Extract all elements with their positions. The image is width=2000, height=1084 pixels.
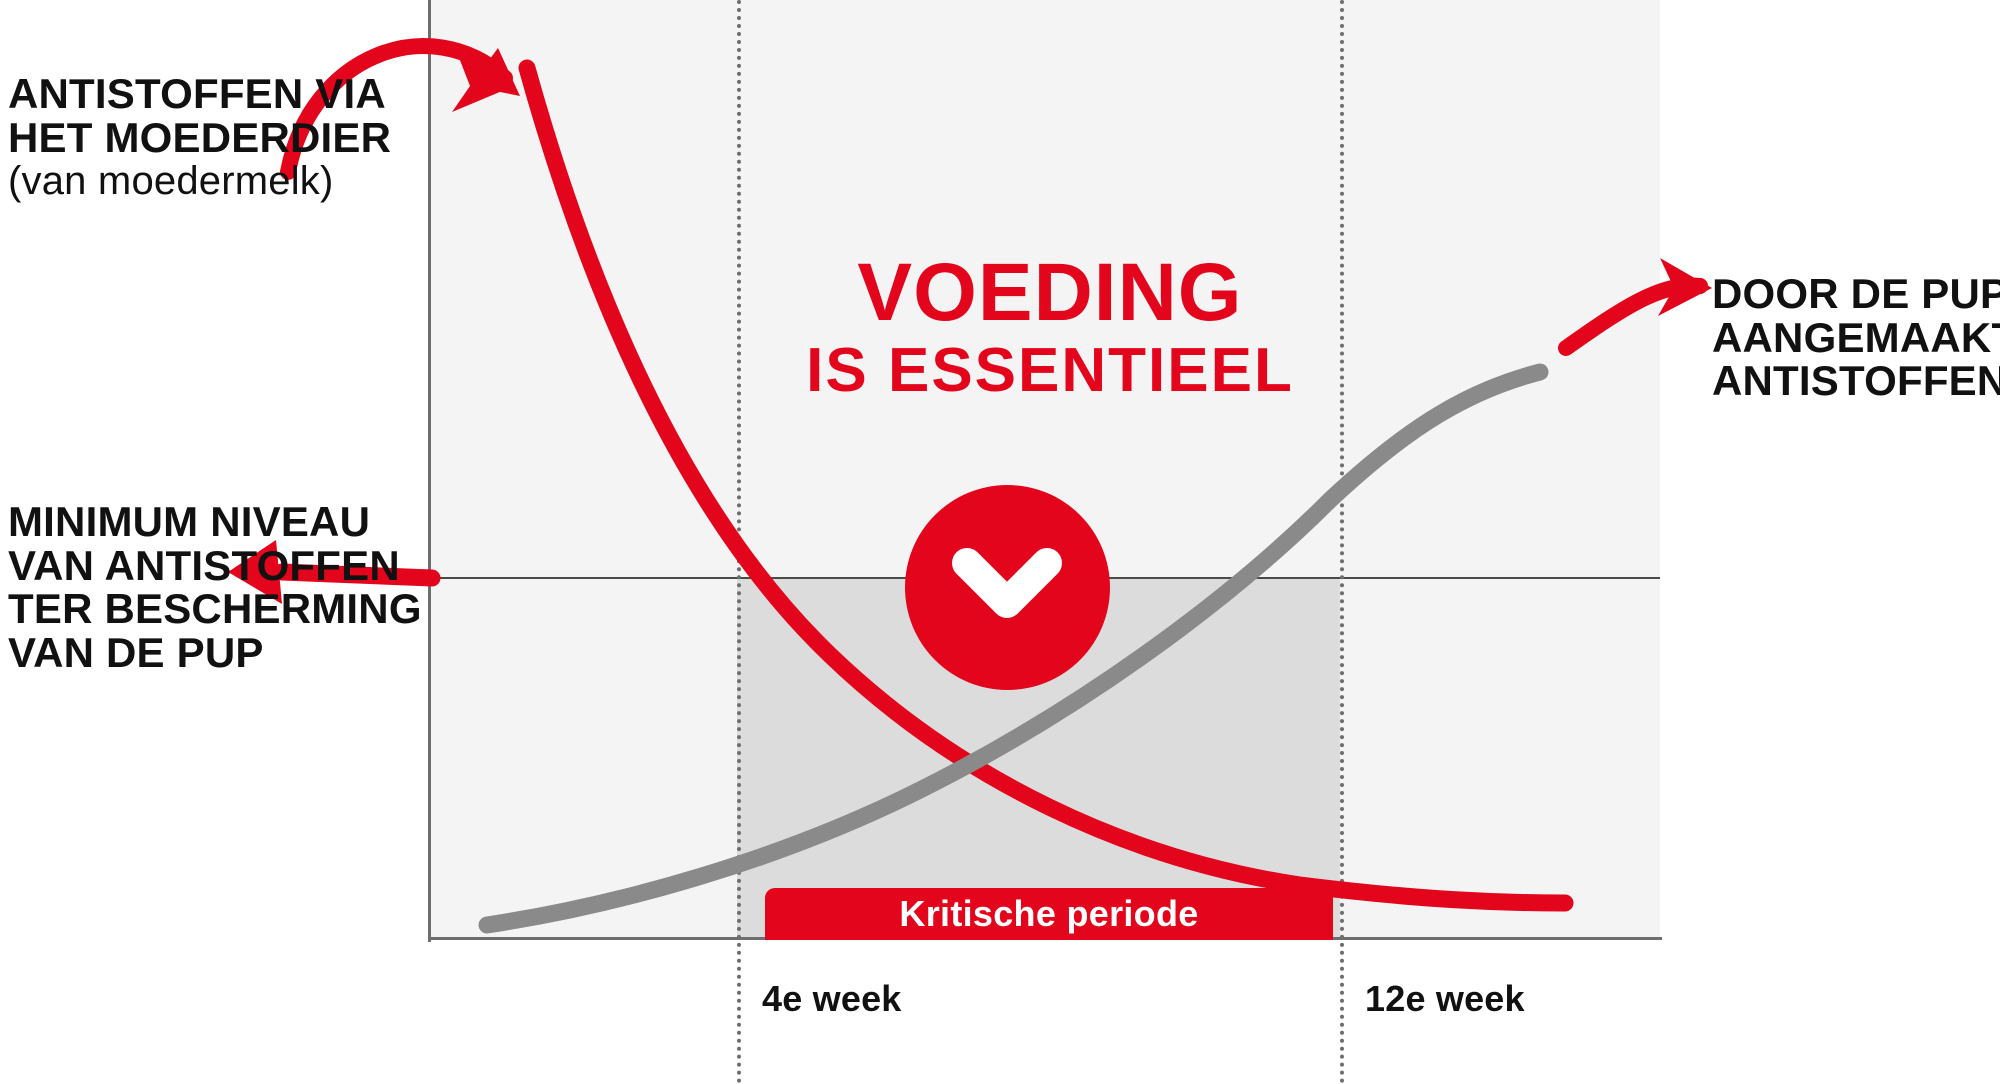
chevron-down-icon — [905, 485, 1110, 690]
annotation-puppy-line-2: AANGEMAAKTE — [1712, 316, 2000, 360]
gridline-week-4 — [737, 0, 741, 1084]
annotation-minimum-line-2: VAN ANTISTOFFEN — [8, 544, 422, 588]
annotation-maternal-subtext: (van moedermelk) — [8, 161, 391, 203]
chevron-badge — [905, 485, 1110, 690]
x-tick-label-week-4: 4e week — [762, 978, 902, 1020]
annotation-maternal-line-1: ANTISTOFFEN VIA — [8, 72, 391, 116]
headline-line-1: VOEDING — [640, 253, 1460, 333]
y-axis-line — [428, 0, 431, 942]
annotation-puppy-antibodies: DOOR DE PUP AANGEMAAKTE ANTISTOFFEN — [1712, 272, 2000, 403]
annotation-minimum-line-4: VAN DE PUP — [8, 631, 422, 675]
annotation-maternal-antibodies: ANTISTOFFEN VIA HET MOEDERDIER (van moed… — [8, 72, 391, 203]
x-tick-label-week-12: 12e week — [1365, 978, 1525, 1020]
annotation-maternal-line-2: HET MOEDERDIER — [8, 116, 391, 160]
annotation-minimum-line-1: MINIMUM NIVEAU — [8, 500, 422, 544]
infographic-canvas: VOEDING IS ESSENTIEEL Kritische periode … — [0, 0, 2000, 1084]
annotation-puppy-line-1: DOOR DE PUP — [1712, 272, 2000, 316]
headline-line-2: IS ESSENTIEEL — [640, 341, 1460, 402]
critical-period-label: Kritische periode — [899, 893, 1198, 935]
page-title: VOEDING IS ESSENTIEEL — [640, 253, 1460, 402]
gridline-week-12 — [1340, 0, 1344, 1084]
annotation-minimum-level: MINIMUM NIVEAU VAN ANTISTOFFEN TER BESCH… — [8, 500, 422, 675]
annotation-puppy-line-3: ANTISTOFFEN — [1712, 359, 2000, 403]
critical-period-label-bar: Kritische periode — [765, 888, 1333, 940]
annotation-minimum-line-3: TER BESCHERMING — [8, 587, 422, 631]
